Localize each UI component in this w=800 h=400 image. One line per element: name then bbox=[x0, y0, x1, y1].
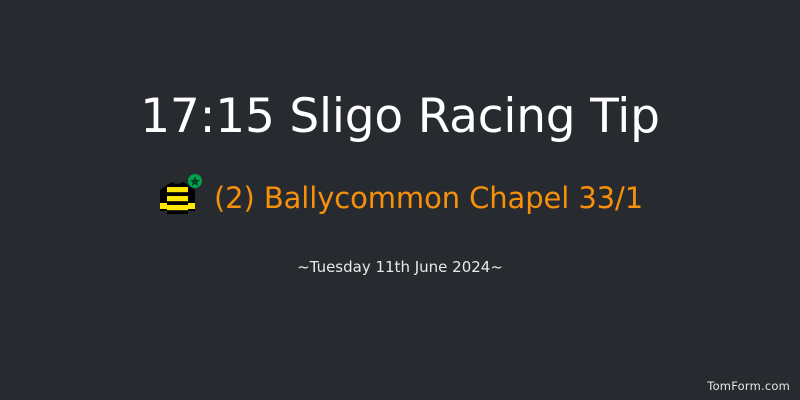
tip-selection-row: (2) Ballycommon Chapel 33/1 bbox=[0, 173, 800, 223]
site-watermark: TomForm.com bbox=[707, 379, 790, 393]
race-date-row: ~Tuesday 11th June 2024~ bbox=[0, 257, 800, 276]
page-title: 17:15 Sligo Racing Tip bbox=[140, 92, 660, 141]
page-title-row: 17:15 Sligo Racing Tip bbox=[0, 92, 800, 141]
jockey-silks-icon bbox=[157, 173, 203, 223]
racing-tip-card: 17:15 Sligo Racing Tip (2) Ballycommon C… bbox=[0, 0, 800, 400]
tip-selection-text: (2) Ballycommon Chapel 33/1 bbox=[214, 181, 643, 215]
race-date: ~Tuesday 11th June 2024~ bbox=[297, 258, 503, 276]
